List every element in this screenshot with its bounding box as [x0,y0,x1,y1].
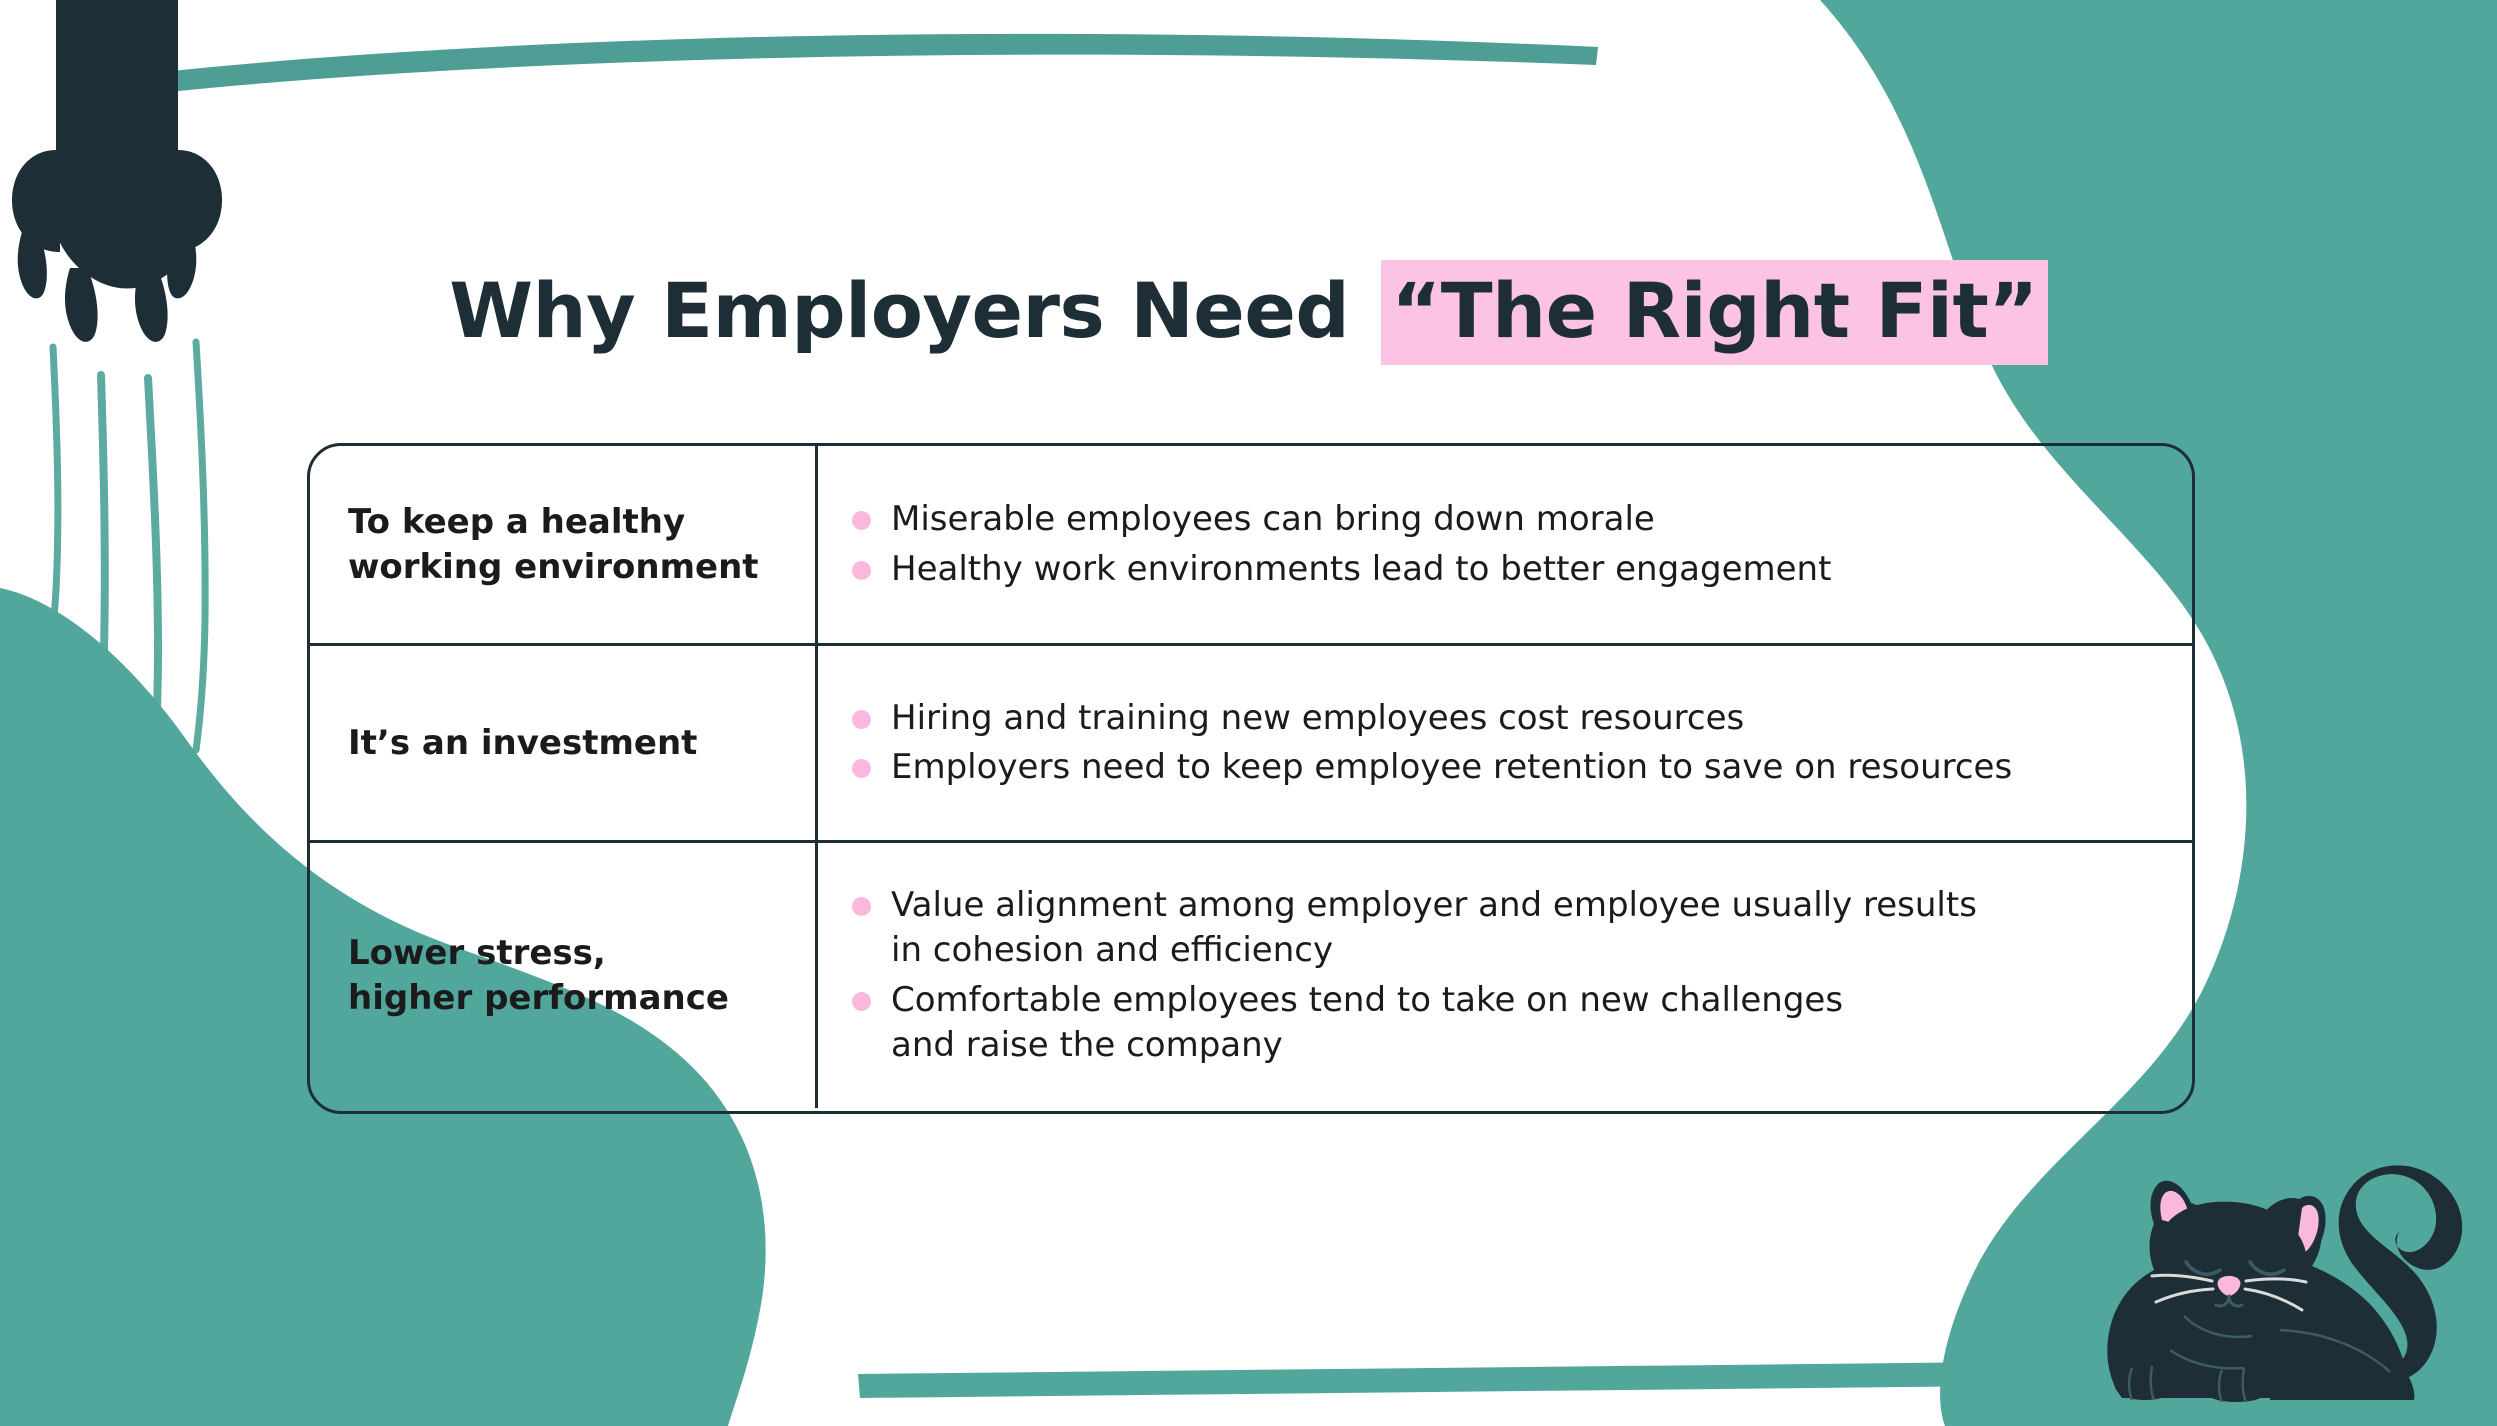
table-row-label: To keep a healthy working environment [348,500,759,590]
table-row-label-cell: Lower stress, higher performance [310,843,818,1108]
bullet-dot-icon [852,992,871,1011]
table-row: It’s an investment Hiring and training n… [310,646,2192,843]
bullet-text: Miserable employees can bring down moral… [891,497,1655,542]
bullet-text: Employers need to keep employee retentio… [891,745,2012,790]
table-row-label: It’s an investment [348,721,697,766]
table-row-label-cell: To keep a healthy working environment [310,446,818,643]
page-title-highlight: “The Right Fit” [1381,260,2048,365]
list-item: Comfortable employees tend to take on ne… [852,978,2168,1068]
claw-scratch-marks-icon [44,342,205,800]
bullet-dot-icon [852,710,871,729]
list-item: Healthy work environments lead to better… [852,547,2168,592]
bullet-dot-icon [852,759,871,778]
table-row: To keep a healthy working environment Mi… [310,446,2192,646]
page-title-plain: Why Employers Need [449,266,1375,355]
bullet-text: Healthy work environments lead to better… [891,547,1831,592]
teal-curve-line [163,34,1598,92]
table-row-bullets-cell: Value alignment among employer and emplo… [818,843,2192,1108]
content-table: To keep a healthy working environment Mi… [307,443,2195,1114]
bullet-dot-icon [852,511,871,530]
table-row-bullets-cell: Hiring and training new employees cost r… [818,646,2192,840]
list-item: Miserable employees can bring down moral… [852,497,2168,542]
bullet-text: Value alignment among employer and emplo… [891,883,1977,973]
bullet-text: Hiring and training new employees cost r… [891,696,1744,741]
list-item: Employers need to keep employee retentio… [852,745,2168,790]
bullet-dot-icon [852,561,871,580]
bullet-text: Comfortable employees tend to take on ne… [891,978,1843,1068]
page-title-container: Why Employers Need “The Right Fit” [0,218,2497,403]
list-item: Hiring and training new employees cost r… [852,696,2168,741]
sleeping-cat-illustration [2074,1150,2494,1426]
table-row-label: Lower stress, higher performance [348,931,729,1021]
table-row-label-cell: It’s an investment [310,646,818,840]
table-row-bullets-cell: Miserable employees can bring down moral… [818,446,2192,643]
list-item: Value alignment among employer and emplo… [852,883,2168,973]
bullet-dot-icon [852,897,871,916]
table-row: Lower stress, higher performance Value a… [310,843,2192,1108]
slide-canvas: Why Employers Need “The Right Fit” To ke… [0,0,2497,1426]
sleeping-black-cat-icon [2074,1150,2494,1426]
page-title: Why Employers Need “The Right Fit” [449,269,2048,353]
